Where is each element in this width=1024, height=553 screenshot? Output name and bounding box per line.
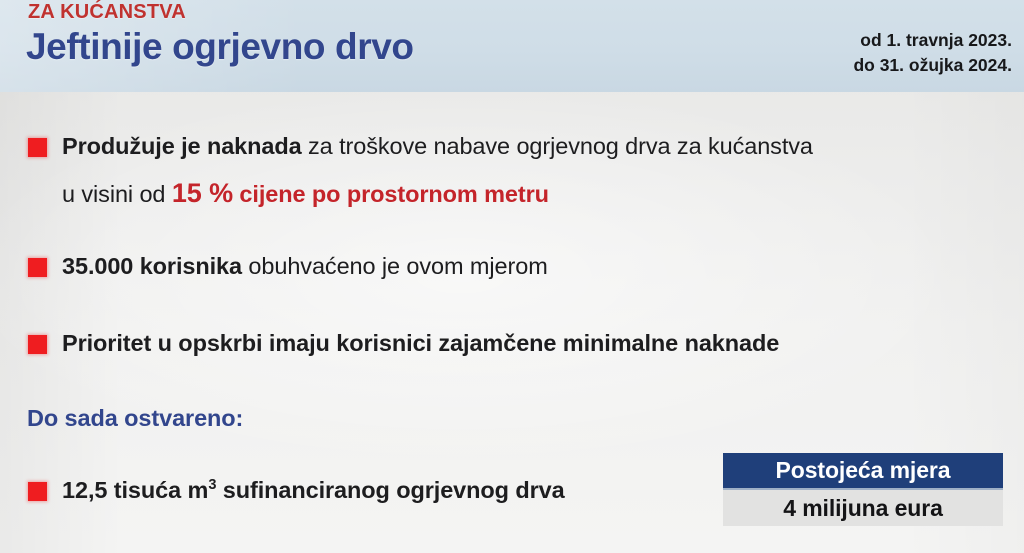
callout-title: Postojeća mjera [723, 453, 1003, 490]
callout-value: 4 milijuna eura [723, 490, 1003, 526]
percentage-highlight: 15 % [172, 178, 233, 208]
period-from-line: od 1. travnja 2023. [853, 28, 1012, 53]
bullet-1-line-2: u visini od 15 % cijene po prostornom me… [62, 178, 549, 209]
callout-box: Postojeća mjera 4 milijuna eura [723, 453, 1003, 526]
bullet-1-emphasis: Produžuje je naknada [62, 133, 302, 159]
bullet-2-line: 35.000 korisnika obuhvaćeno je ovom mjer… [62, 253, 548, 280]
header-kicker: ZA KUĆANSTVA [28, 1, 186, 24]
achievement-suffix: sufinanciranog ogrjevnog drva [216, 477, 564, 503]
bullet-3-emphasis: Prioritet u opskrbi imaju korisnici zaja… [62, 330, 779, 356]
bullet-2-text: obuhvaćeno je ovom mjerom [242, 253, 548, 279]
bullet-2-emphasis: 35.000 korisnika [62, 253, 242, 279]
bullet-square-icon [28, 482, 47, 501]
slide-canvas: ZA KUĆANSTVA Jeftinije ogrjevno drvo od … [0, 0, 1024, 553]
bullet-1-line-1: Produžuje je naknada za troškove nabave … [62, 133, 813, 160]
bullet-square-icon [28, 138, 47, 157]
bullet-1-text: za troškove nabave ogrjevnog drva za kuć… [302, 133, 813, 159]
bullet-4-line: 12,5 tisuća m3 sufinanciranog ogrjevnog … [62, 477, 565, 504]
header-band: ZA KUĆANSTVA Jeftinije ogrjevno drvo od … [0, 0, 1024, 92]
bullet-square-icon [28, 335, 47, 354]
validity-period: od 1. travnja 2023. do 31. ožujka 2024. [853, 28, 1012, 78]
percentage-highlight-caption: cijene po prostornom metru [233, 181, 549, 207]
page-title: Jeftinije ogrjevno drvo [26, 26, 414, 68]
bullet-square-icon [28, 258, 47, 277]
bullet-1-line-2-lead: u visini od [62, 181, 172, 207]
bullet-3-line: Prioritet u opskrbi imaju korisnici zaja… [62, 330, 779, 357]
period-to-line: do 31. ožujka 2024. [853, 53, 1012, 78]
section-subheading: Do sada ostvareno: [27, 405, 243, 432]
achievement-prefix: 12,5 tisuća m [62, 477, 208, 503]
